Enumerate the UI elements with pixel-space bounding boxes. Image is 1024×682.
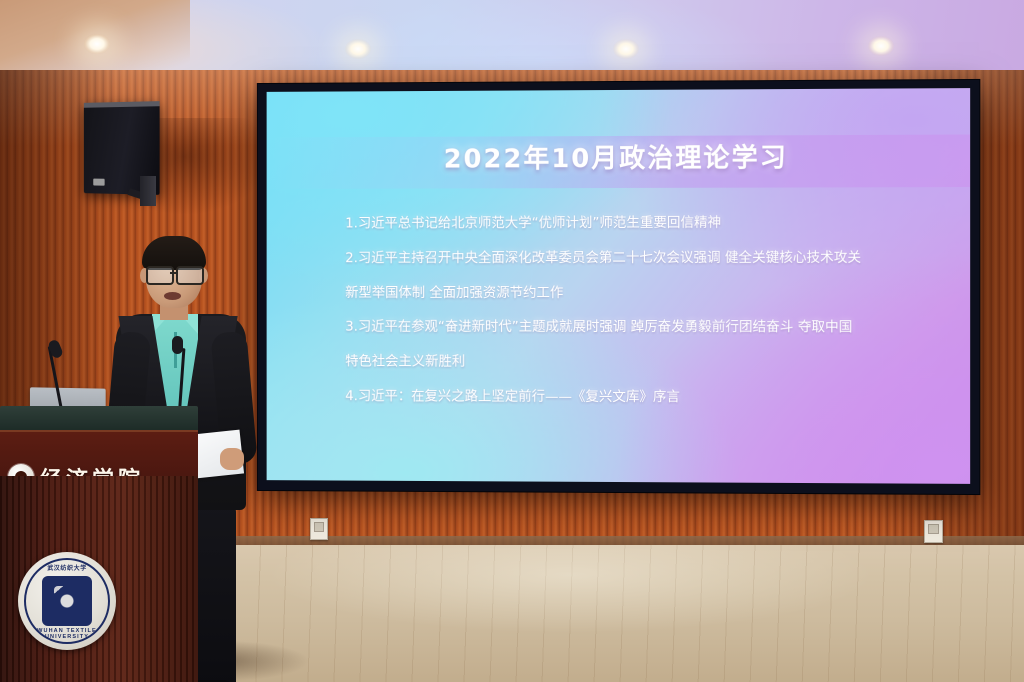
eyeglasses-bridge xyxy=(170,272,178,274)
wall-outlet-plate-right xyxy=(924,520,943,543)
slide-line-5: 特色社会主义新胜利 xyxy=(345,347,909,379)
lecture-hall-photo: 2022年10月政治理论学习 1.习近平总书记给北京师范大学“优师计划”师范生重… xyxy=(0,0,1024,682)
slide-line-1: 1.习近平总书记给北京师范大学“优师计划”师范生重要回信精神 xyxy=(345,207,909,239)
loudspeaker-mount-bracket xyxy=(140,176,156,206)
seal-center-glyph xyxy=(42,576,92,626)
slide-title: 2022年10月政治理论学习 xyxy=(267,137,971,177)
presentation-screen-frame: 2022年10月政治理论学习 1.习近平总书记给北京师范大学“优师计划”师范生重… xyxy=(258,80,980,494)
eyeglasses-right-lens xyxy=(176,266,204,285)
seal-english-name: WUHAN TEXTILE UNIVERSITY xyxy=(18,628,116,640)
speaker-hair xyxy=(142,236,206,270)
podium-desktop-surface xyxy=(0,406,198,432)
university-seal: 武汉纺织大学 WUHAN TEXTILE UNIVERSITY xyxy=(18,552,116,650)
slide-line-6: 4.习近平：在复兴之路上坚定前行——《复兴文库》序言 xyxy=(345,381,909,413)
ceiling-downlight-2 xyxy=(345,39,371,59)
seal-chinese-name: 武汉纺织大学 xyxy=(18,563,116,572)
eyeglasses-left-lens xyxy=(146,266,174,285)
speaker-mouth xyxy=(164,292,181,300)
loudspeaker-shadow xyxy=(150,118,268,214)
slide-line-3: 新型举国体制 全面加强资源节约工作 xyxy=(345,277,909,308)
presentation-screen[interactable]: 2022年10月政治理论学习 1.习近平总书记给北京师范大学“优师计划”师范生重… xyxy=(267,88,971,484)
ceiling-downlight-4 xyxy=(868,36,894,56)
slide-line-4: 3.习近平在参观“奋进新时代”主题成就展时强调 踔厉奋发勇毅前行团结奋斗 夺取中… xyxy=(345,312,909,343)
wall-outlet-plate-left xyxy=(310,518,328,540)
lectern-podium: 经济学院 xyxy=(0,406,198,682)
ceiling-downlight-1 xyxy=(84,34,110,54)
loudspeaker-top-edge xyxy=(84,101,160,108)
microphone-head-right xyxy=(172,336,183,354)
podium-name-banner: 经济学院 xyxy=(0,430,198,480)
slide-line-2: 2.习近平主持召开中央全面深化改革委员会第二十七次会议强调 健全关键核心技术攻关 xyxy=(345,242,909,273)
ceiling-downlight-3 xyxy=(613,39,639,59)
loudspeaker-brand-logo xyxy=(93,179,104,186)
slide-body: 1.习近平总书记给北京师范大学“优师计划”师范生重要回信精神 2.习近平主持召开… xyxy=(345,207,909,417)
speaker-hand-right xyxy=(220,448,244,470)
